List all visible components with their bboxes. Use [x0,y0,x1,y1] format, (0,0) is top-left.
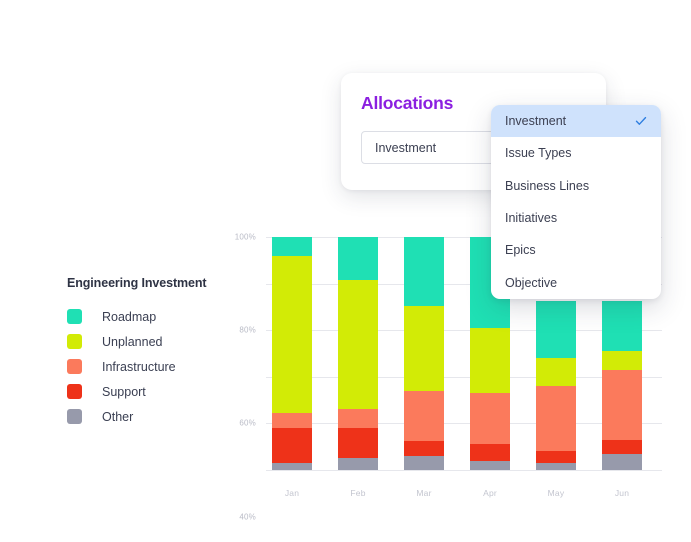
x-axis-tick-label: Mar [404,488,444,498]
bar-segment-infrastructure[interactable] [536,386,576,451]
chart-legend: Engineering Investment RoadmapUnplannedI… [67,276,232,429]
legend-item-label: Infrastructure [102,360,176,374]
y-axis-tick-label: 40% [239,512,256,521]
bar-segment-support[interactable] [602,440,642,454]
x-axis-tick-label: Apr [470,488,510,498]
bar-segment-unplanned[interactable] [536,358,576,386]
legend-item-other[interactable]: Other [67,404,232,429]
legend-item-label: Support [102,385,146,399]
check-icon [635,115,647,127]
legend-item-infrastructure[interactable]: Infrastructure [67,354,232,379]
bar-segment-other[interactable] [338,458,378,470]
x-axis-tick-label: May [536,488,576,498]
dropdown-item-investment[interactable]: Investment [491,105,661,137]
bar-segment-unplanned[interactable] [272,256,312,413]
bar-segment-other[interactable] [602,454,642,470]
bar-segment-support[interactable] [470,444,510,460]
legend-item-roadmap[interactable]: Roadmap [67,304,232,329]
bar-segment-infrastructure[interactable] [272,413,312,428]
gridline: 0% [266,470,662,471]
legend-swatch-icon [67,359,82,374]
page-title: Allocations [361,93,453,114]
legend-swatch-icon [67,409,82,424]
bar-segment-roadmap[interactable] [404,237,444,306]
bar-jun[interactable] [602,301,642,470]
bar-segment-unplanned[interactable] [602,351,642,370]
dropdown-item-label: Objective [505,276,557,290]
dropdown-item-label: Investment [505,114,566,128]
bar-segment-other[interactable] [272,463,312,470]
bar-segment-other[interactable] [404,456,444,470]
bar-segment-support[interactable] [536,451,576,463]
bar-jan[interactable] [272,237,312,470]
legend-title: Engineering Investment [67,276,232,290]
legend-item-label: Other [102,410,133,424]
x-axis-tick-label: Feb [338,488,378,498]
dropdown-item-business-lines[interactable]: Business Lines [491,170,661,202]
x-axis-tick-label: Jun [602,488,642,498]
bar-segment-support[interactable] [404,441,444,456]
bar-segment-infrastructure[interactable] [404,391,444,441]
bar-segment-unplanned[interactable] [338,280,378,409]
legend-swatch-icon [67,384,82,399]
bar-may[interactable] [536,301,576,470]
bar-mar[interactable] [404,237,444,470]
bar-segment-other[interactable] [470,461,510,470]
dropdown-item-label: Issue Types [505,146,571,160]
bar-segment-roadmap[interactable] [536,301,576,358]
y-axis-tick-label: 60% [239,419,256,428]
bar-segment-support[interactable] [272,428,312,463]
x-axis-tick-label: Jan [272,488,312,498]
legend-swatch-icon [67,334,82,349]
bar-segment-infrastructure[interactable] [602,370,642,440]
legend-item-unplanned[interactable]: Unplanned [67,329,232,354]
bar-segment-unplanned[interactable] [470,328,510,393]
dropdown-item-label: Business Lines [505,179,589,193]
legend-item-list: RoadmapUnplannedInfrastructureSupportOth… [67,304,232,429]
app-root: Engineering Investment RoadmapUnplannedI… [0,0,691,542]
bar-segment-roadmap[interactable] [272,237,312,256]
dropdown-item-objective[interactable]: Objective [491,266,661,298]
bar-segment-infrastructure[interactable] [338,409,378,428]
dropdown-item-label: Epics [505,243,536,257]
legend-swatch-icon [67,309,82,324]
bar-segment-support[interactable] [338,428,378,458]
dropdown-item-epics[interactable]: Epics [491,234,661,266]
bar-segment-other[interactable] [536,463,576,470]
bar-segment-roadmap[interactable] [602,301,642,351]
bar-segment-infrastructure[interactable] [470,393,510,444]
bar-feb[interactable] [338,237,378,470]
legend-item-label: Roadmap [102,310,156,324]
dropdown-item-label: Initiatives [505,211,557,225]
allocations-dropdown-menu[interactable]: InvestmentIssue TypesBusiness LinesIniti… [491,105,661,299]
legend-item-support[interactable]: Support [67,379,232,404]
y-axis-tick-label: 100% [235,233,256,242]
y-axis-tick-label: 80% [239,326,256,335]
bar-segment-unplanned[interactable] [404,306,444,391]
allocations-select-value: Investment [375,141,436,155]
legend-item-label: Unplanned [102,335,162,349]
bar-segment-roadmap[interactable] [338,237,378,280]
dropdown-item-issue-types[interactable]: Issue Types [491,137,661,169]
dropdown-item-initiatives[interactable]: Initiatives [491,202,661,234]
